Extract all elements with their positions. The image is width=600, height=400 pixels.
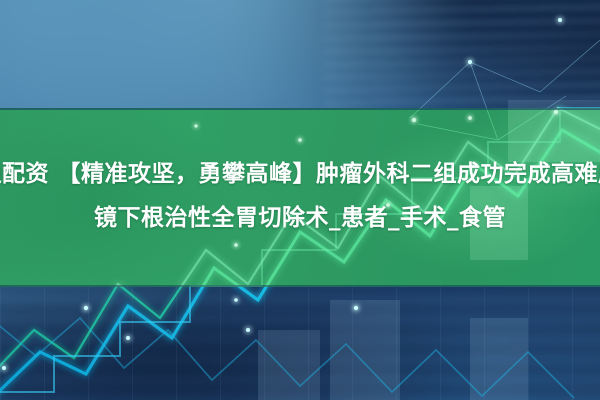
banner-image: 易配通配资 【精准攻坚，勇攀高峰】肿瘤外科二组成功完成高难度腹腔镜下根治性全胃切… <box>0 0 600 400</box>
band-bottom-edge <box>0 285 600 287</box>
banner-headline: 易配通配资 【精准攻坚，勇攀高峰】肿瘤外科二组成功完成高难度腹腔镜下根治性全胃切… <box>0 152 600 240</box>
band-top-edge <box>0 108 600 110</box>
headline-container: 易配通配资 【精准攻坚，勇攀高峰】肿瘤外科二组成功完成高难度腹腔镜下根治性全胃切… <box>0 152 600 240</box>
